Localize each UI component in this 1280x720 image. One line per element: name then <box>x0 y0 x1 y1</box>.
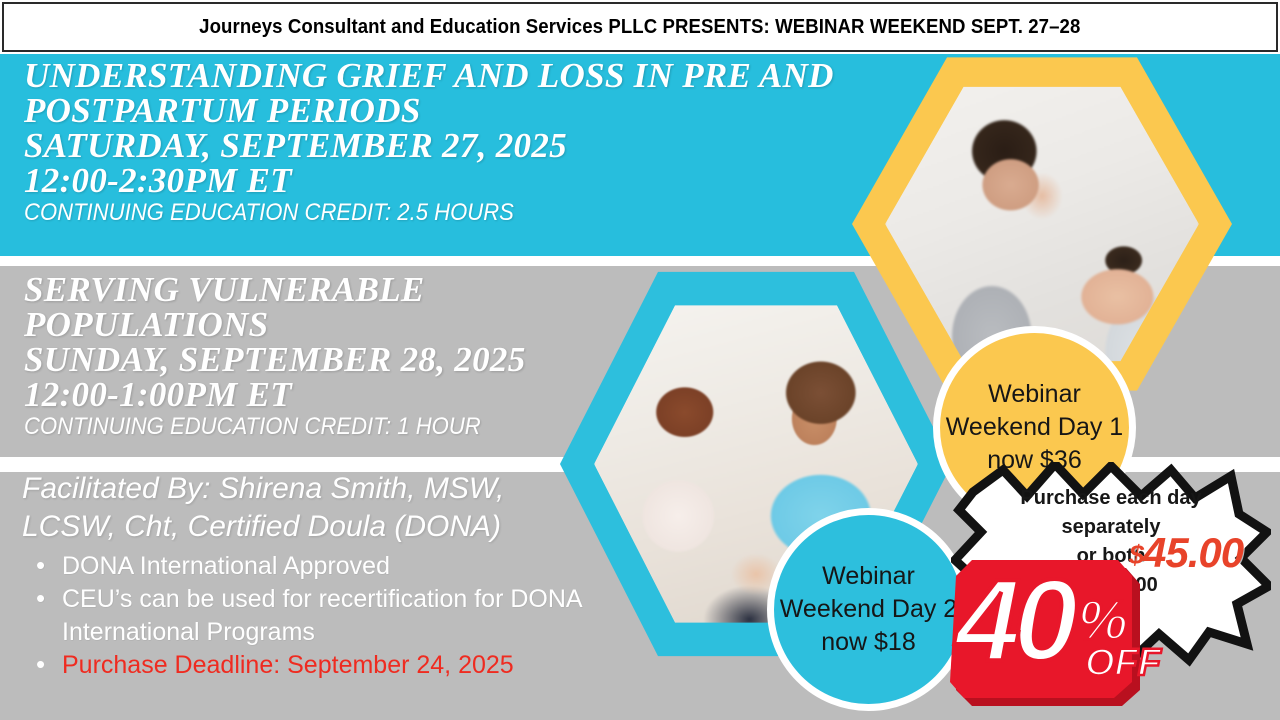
discount-badge-40-off: 40 % OFF <box>950 540 1150 715</box>
session-time: 12:00-1:00PM ET <box>24 377 664 412</box>
list-item: DONA International Approved <box>22 550 602 583</box>
badge-line3: now $18 <box>780 626 957 659</box>
facilitator-block: Facilitated By: Shirena Smith, MSW, LCSW… <box>22 470 602 682</box>
badge-line2: Weekend Day 1 <box>946 411 1123 444</box>
header-title: Journeys Consultant and Education Servic… <box>199 16 1080 39</box>
session-title-line1: SERVING VULNERABLE <box>24 272 664 307</box>
off-label: OFF <box>1085 644 1161 682</box>
discount-number: 40 <box>956 562 1071 678</box>
price-badge-day2[interactable]: Webinar Weekend Day 2 now $18 <box>767 508 970 711</box>
badge-line1: Webinar <box>780 560 957 593</box>
session-title-line1: UNDERSTANDING GRIEF AND LOSS IN PRE AND <box>24 58 924 93</box>
facilitator-line1: Facilitated By: Shirena Smith, MSW, <box>22 470 602 508</box>
list-item: CEU’s can be used for recertification fo… <box>22 583 602 649</box>
badge-line2: Weekend Day 2 <box>780 593 957 626</box>
new-price-value: 45.00 <box>1143 529 1243 576</box>
session-title-line2: POPULATIONS <box>24 307 664 342</box>
badge-line1: Webinar <box>946 378 1123 411</box>
list-item-purchase-deadline: Purchase Deadline: September 24, 2025 <box>22 649 602 682</box>
percent-sign: % <box>1078 592 1128 648</box>
session-ce-credit: CONTINUING EDUCATION CREDIT: 2.5 HOURS <box>24 198 852 228</box>
session-title-line2: POSTPARTUM PERIODS <box>24 93 924 128</box>
facilitator-bullet-list: DONA International Approved CEU’s can be… <box>22 550 602 682</box>
session-block-sunday: SERVING VULNERABLE POPULATIONS SUNDAY, S… <box>24 272 664 442</box>
header-banner: Journeys Consultant and Education Servic… <box>2 2 1278 52</box>
starburst-line1: Purchase each day <box>951 484 1271 513</box>
session-date: SATURDAY, SEPTEMBER 27, 2025 <box>24 128 924 163</box>
facilitator-line2: LCSW, Cht, Certified Doula (DONA) <box>22 508 602 546</box>
session-ce-credit: CONTINUING EDUCATION CREDIT: 1 HOUR <box>24 412 613 442</box>
session-block-saturday: UNDERSTANDING GRIEF AND LOSS IN PRE AND … <box>24 58 924 228</box>
price-badge-day2-text: Webinar Weekend Day 2 now $18 <box>780 560 957 659</box>
session-time: 12:00-2:30PM ET <box>24 163 924 198</box>
flyer-canvas: Journeys Consultant and Education Servic… <box>0 0 1280 720</box>
session-date: SUNDAY, SEPTEMBER 28, 2025 <box>24 342 664 377</box>
